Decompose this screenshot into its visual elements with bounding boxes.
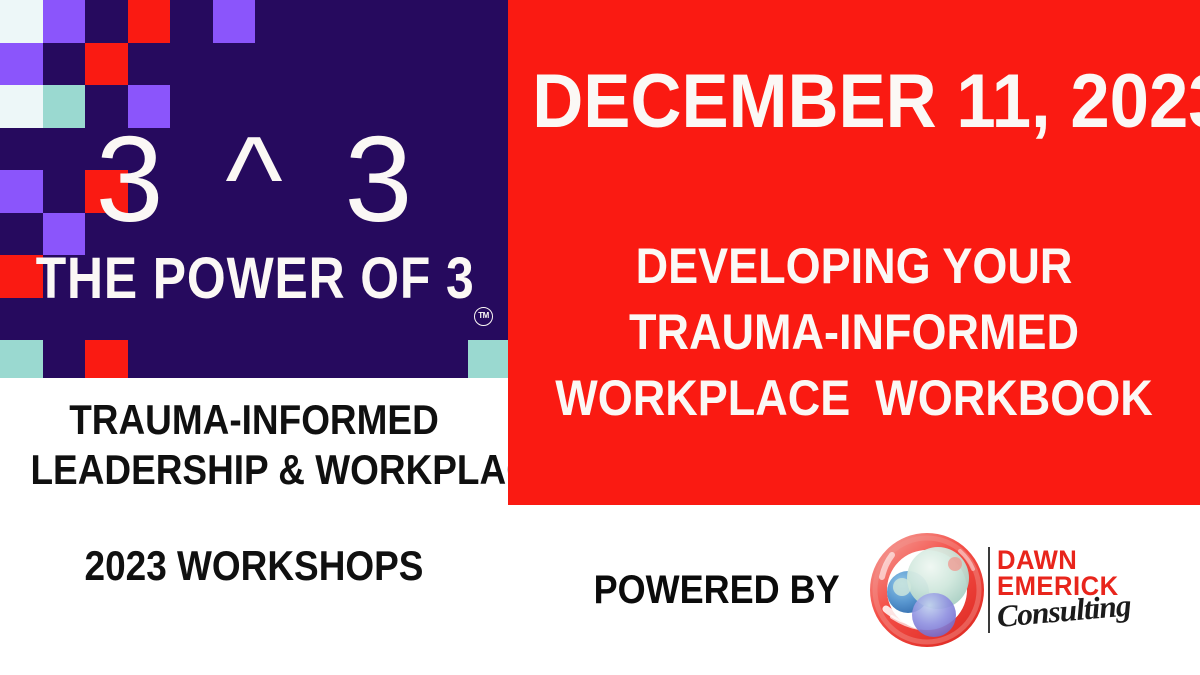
powered-by-label: POWERED BY: [594, 568, 840, 612]
event-subtitle: DEVELOPING YOUR TRAUMA-INFORMED WORKPLAC…: [508, 233, 1200, 431]
event-date: DECEMBER 11, 2023: [532, 62, 1176, 142]
event-subtitle-line-1: DEVELOPING YOUR: [543, 233, 1166, 299]
dawn-emerick-wordmark: DAWN EMERICK Consulting: [988, 547, 1128, 634]
event-info-panel: DECEMBER 11, 2023 DEVELOPING YOUR TRAUMA…: [508, 0, 1200, 505]
left-copy-block: TRAUMA-INFORMED LEADERSHIP & WORKPLACE 2…: [0, 395, 508, 591]
event-subtitle-line-2: TRAUMA-INFORMED: [543, 299, 1166, 365]
trademark-icon: TM: [474, 307, 493, 326]
logo-mark-text: 3 ^ 3: [0, 118, 508, 240]
event-subtitle-line-3: WORKPLACE WORKBOOK: [543, 365, 1166, 431]
powered-by-row: POWERED BY: [508, 505, 1200, 675]
wordmark-text: DAWN EMERICK Consulting: [997, 547, 1128, 634]
event-banner: 3 ^ 3 THE POWER OF 3 TM TRAUMA-INFORMED …: [0, 0, 1200, 675]
brand-logo-tile: 3 ^ 3 THE POWER OF 3 TM: [0, 0, 508, 378]
wordmark-line-dawn: DAWN: [997, 547, 1122, 573]
left-heading-line-1: TRAUMA-INFORMED: [30, 395, 477, 445]
dawn-emerick-consulting-logo: DAWN EMERICK Consulting: [868, 531, 1128, 649]
left-subheading: 2023 WORKSHOPS: [30, 541, 477, 591]
logo-tagline-wrap: THE POWER OF 3: [0, 250, 508, 308]
globe-orb-icon: [868, 531, 986, 649]
left-heading-line-2: LEADERSHIP & WORKPLACE: [30, 445, 477, 495]
logo-tagline: THE POWER OF 3: [36, 250, 475, 308]
power-of-three-lockup: 3 ^ 3 THE POWER OF 3 TM: [0, 0, 508, 378]
wordmark-divider: [988, 547, 990, 633]
